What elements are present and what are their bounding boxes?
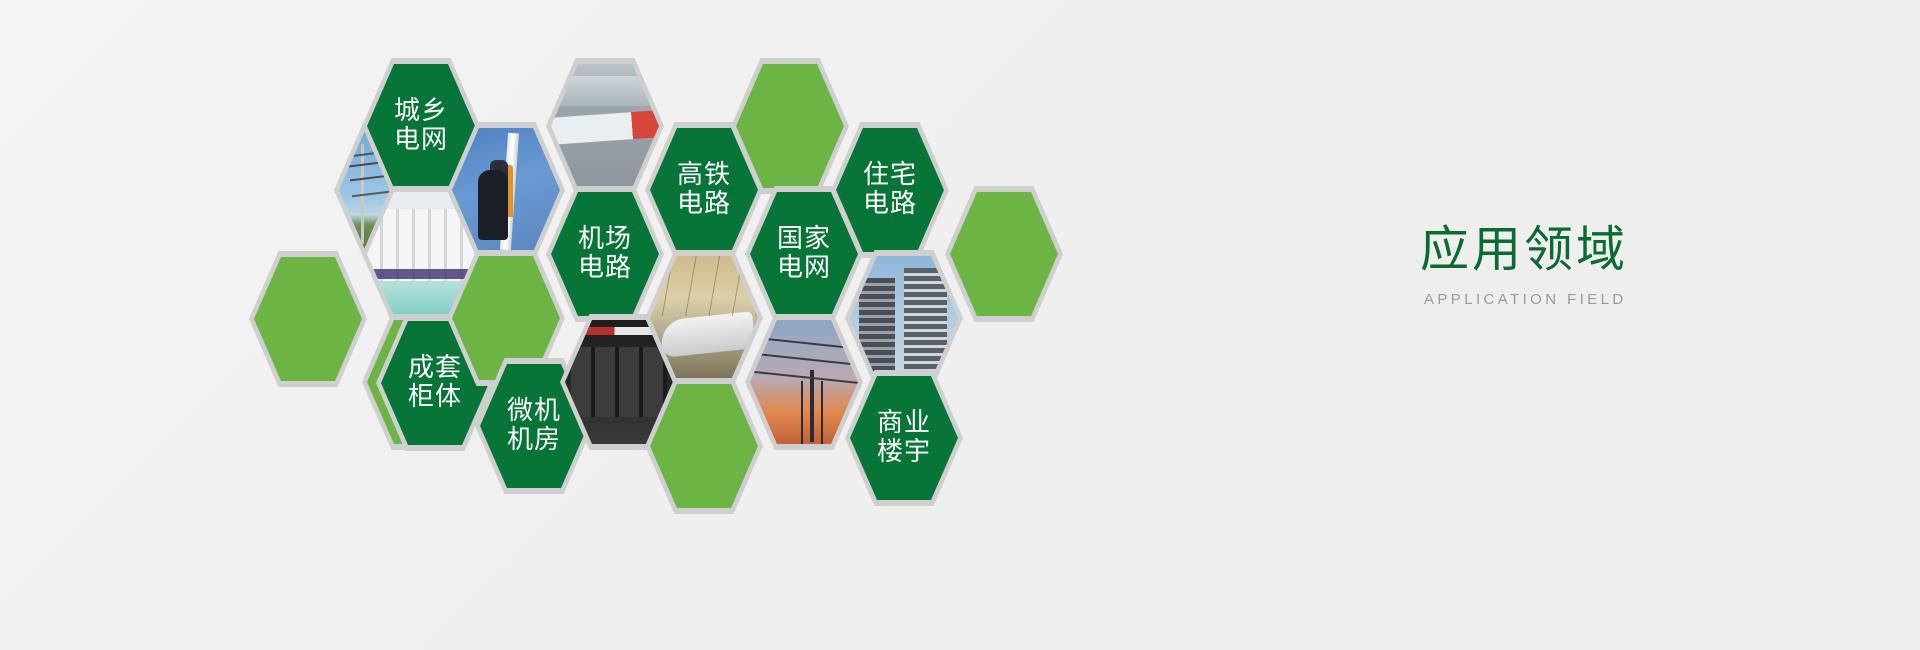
- hex-tile-cell-10[interactable]: 机场 电路: [546, 186, 664, 322]
- hex-label: 成套 柜体: [408, 354, 462, 412]
- hex-inner: 住宅 电路: [836, 128, 944, 252]
- hex-inner: [950, 192, 1058, 316]
- hex-label: 住宅 电路: [863, 161, 917, 219]
- train-photo: [650, 256, 758, 380]
- hex-inner: 机场 电路: [551, 192, 659, 316]
- application-field-banner: 城乡 电网成套 柜体微机 机房机场 电路高铁 电路国家 电网住宅 电路商业 楼宇…: [0, 0, 1920, 650]
- hex-tile-cell-9[interactable]: [546, 58, 664, 194]
- hex-label: 商业 楼宇: [877, 409, 931, 467]
- weld-photo: [452, 128, 560, 252]
- hex-label: 城乡 电网: [394, 97, 448, 155]
- hex-inner: [750, 320, 858, 444]
- hex-inner: [736, 64, 844, 188]
- hex-tile-cell-0[interactable]: [249, 251, 367, 387]
- hex-tile-cell-17[interactable]: [745, 314, 863, 450]
- air-photo: [551, 64, 659, 188]
- page-title: 应用领域: [1420, 222, 1840, 278]
- bldg-photo: [850, 256, 958, 380]
- hex-tile-cell-21[interactable]: [945, 186, 1063, 322]
- hex-tile-cell-19[interactable]: [845, 250, 963, 386]
- hex-inner: [254, 257, 362, 381]
- sunset-photo: [750, 320, 858, 444]
- hex-tile-cell-20[interactable]: 商业 楼宇: [845, 370, 963, 506]
- hex-inner: [850, 256, 958, 380]
- heading-block: 应用领域 APPLICATION FIELD: [1420, 222, 1840, 308]
- hex-inner: [551, 64, 659, 188]
- hex-label: 国家 电网: [777, 225, 831, 283]
- hex-label: 高铁 电路: [677, 161, 731, 219]
- hex-inner: 商业 楼宇: [850, 376, 958, 500]
- hex-inner: [650, 256, 758, 380]
- hexagon-honeycomb: 城乡 电网成套 柜体微机 机房机场 电路高铁 电路国家 电网住宅 电路商业 楼宇: [0, 0, 1300, 650]
- hex-label: 微机 机房: [507, 397, 561, 455]
- hex-label: 机场 电路: [578, 225, 632, 283]
- hex-inner: [650, 384, 758, 508]
- hex-inner: [452, 128, 560, 252]
- page-subtitle: APPLICATION FIELD: [1424, 291, 1840, 308]
